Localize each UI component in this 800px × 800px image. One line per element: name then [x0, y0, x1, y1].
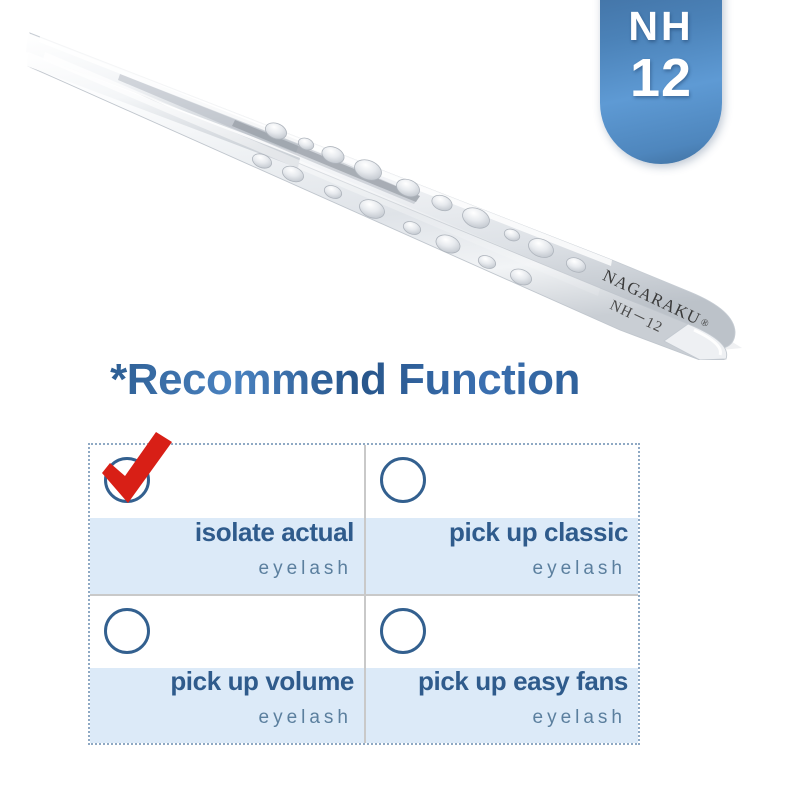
circle-icon — [104, 457, 150, 503]
function-cell-pick-up-volume[interactable]: pick up volume eyelash — [90, 594, 364, 743]
function-cell-isolate-actual[interactable]: isolate actual eyelash — [90, 445, 364, 594]
page-title: *Recommend Function — [0, 355, 690, 405]
function-label: pick up volume — [100, 667, 354, 695]
function-cell-text: isolate actual eyelash — [100, 518, 354, 580]
badge-series-label: NH — [628, 6, 693, 47]
function-label: pick up classic — [376, 518, 628, 546]
model-badge: NH 12 — [600, 0, 722, 164]
function-cell-pick-up-easy-fans[interactable]: pick up easy fans eyelash — [364, 594, 638, 743]
function-label: pick up easy fans — [376, 667, 628, 695]
circle-icon — [380, 608, 426, 654]
function-label: isolate actual — [100, 518, 354, 546]
function-sublabel: eyelash — [100, 558, 352, 580]
recommend-function-grid: isolate actual eyelash pick up classic e… — [88, 443, 640, 745]
function-sublabel: eyelash — [376, 558, 626, 580]
function-cell-text: pick up easy fans eyelash — [376, 667, 628, 729]
function-cell-pick-up-classic[interactable]: pick up classic eyelash — [364, 445, 638, 594]
function-sublabel: eyelash — [100, 707, 352, 729]
function-cell-text: pick up classic eyelash — [376, 518, 628, 580]
function-sublabel: eyelash — [376, 707, 626, 729]
circle-icon — [380, 457, 426, 503]
product-photo: NAGARAKU® NH－12 NH 12 — [0, 0, 800, 360]
badge-number-label: 12 — [630, 51, 692, 105]
circle-icon — [104, 608, 150, 654]
function-cell-text: pick up volume eyelash — [100, 667, 354, 729]
